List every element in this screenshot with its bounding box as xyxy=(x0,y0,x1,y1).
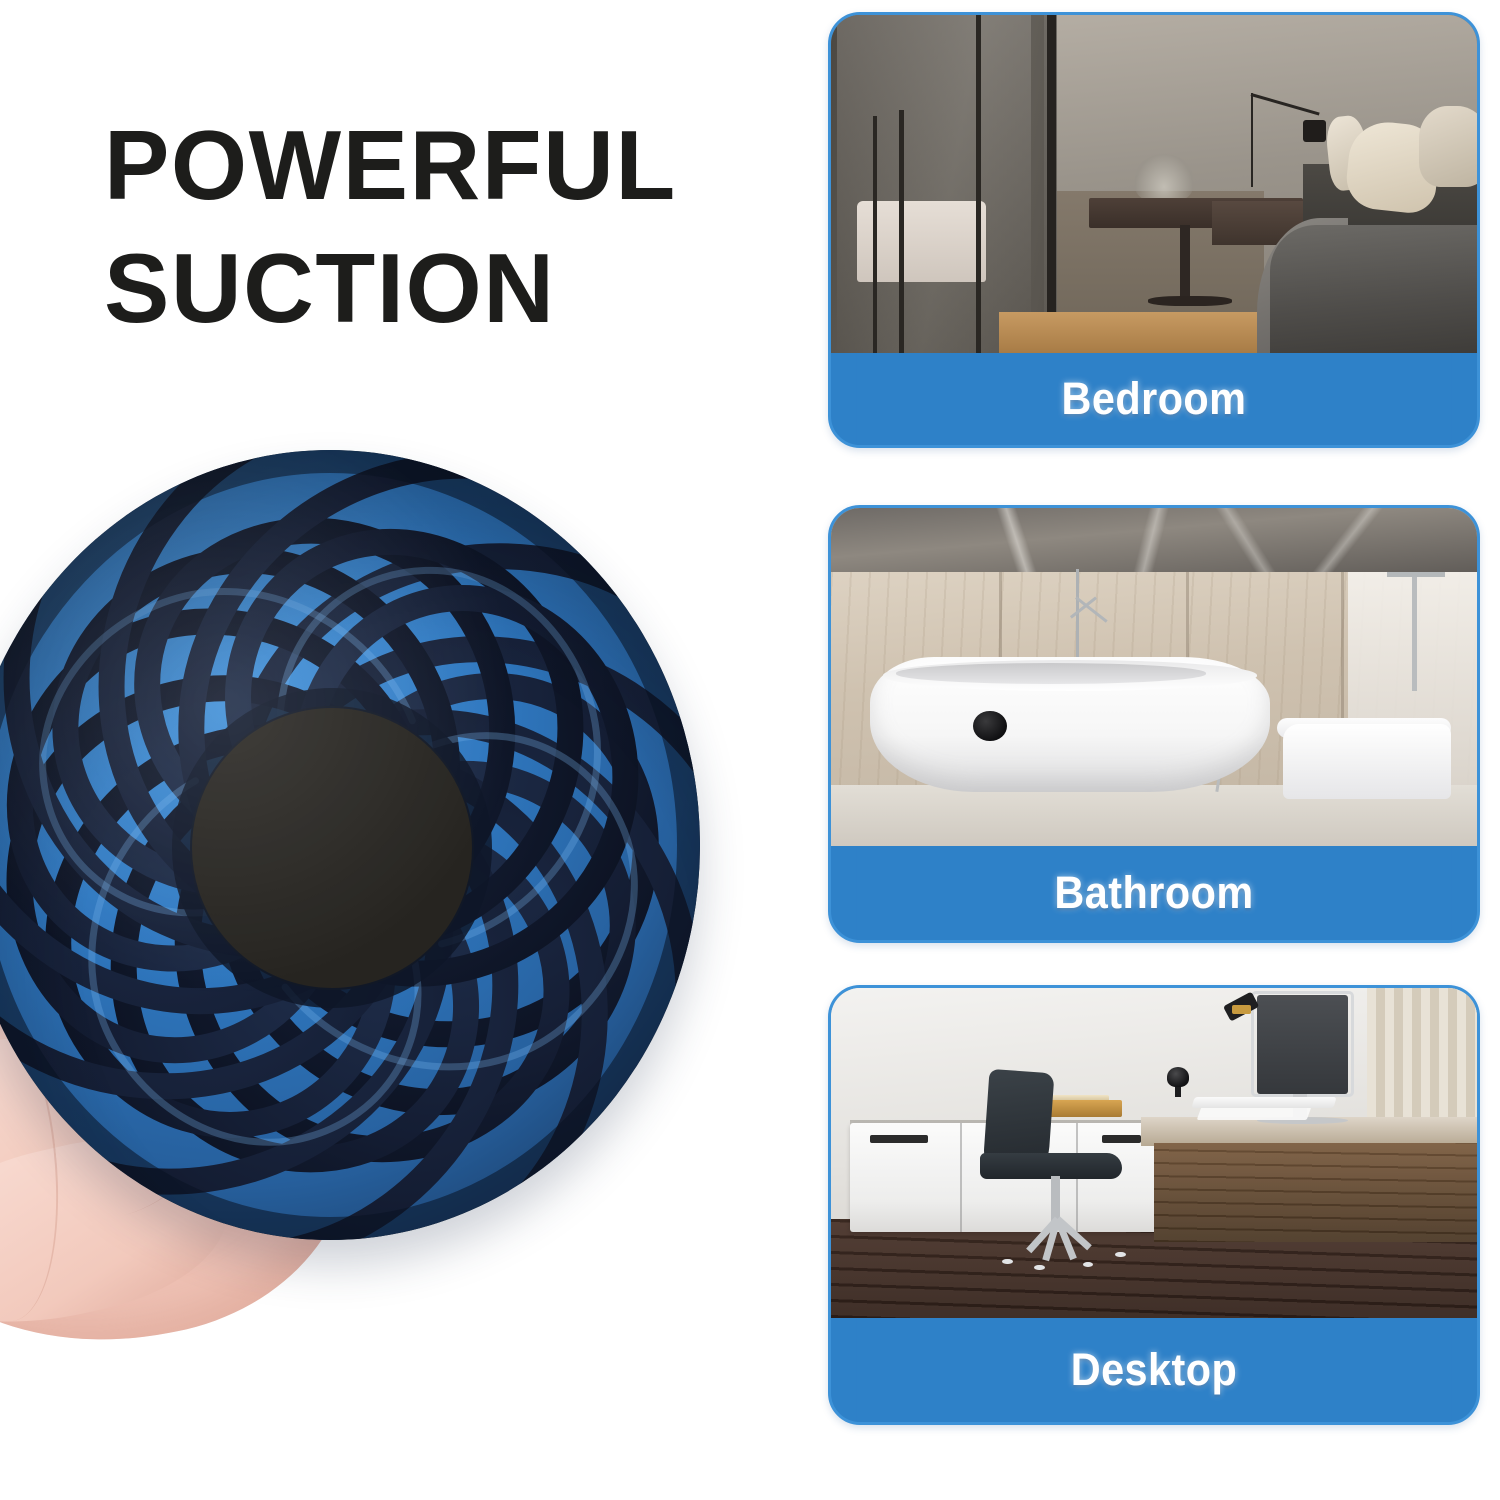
disc-body xyxy=(0,450,700,1240)
scene-card-desktop[interactable]: Desktop xyxy=(828,985,1480,1425)
spiral-pattern-icon xyxy=(0,450,700,1240)
desktop-photo xyxy=(831,988,1477,1318)
scene-label-bathroom: Bathroom xyxy=(857,846,1451,940)
headline-line-2: SUCTION xyxy=(104,227,744,350)
headline-line-1: POWERFUL xyxy=(104,104,744,227)
bathroom-photo xyxy=(831,508,1477,846)
product-photo xyxy=(0,430,760,1500)
scene-card-bedroom[interactable]: Bedroom xyxy=(828,12,1480,448)
page-title: POWERFUL SUCTION xyxy=(104,104,744,351)
spiral-suction-disc xyxy=(0,450,720,1250)
product-mounted-hook xyxy=(973,711,1007,741)
bedroom-photo xyxy=(831,15,1477,353)
scene-card-bathroom[interactable]: Bathroom xyxy=(828,505,1480,943)
scene-label-desktop: Desktop xyxy=(857,1318,1451,1422)
scene-label-bedroom: Bedroom xyxy=(857,353,1451,445)
scene-cards: Bedroom xyxy=(828,12,1480,1425)
